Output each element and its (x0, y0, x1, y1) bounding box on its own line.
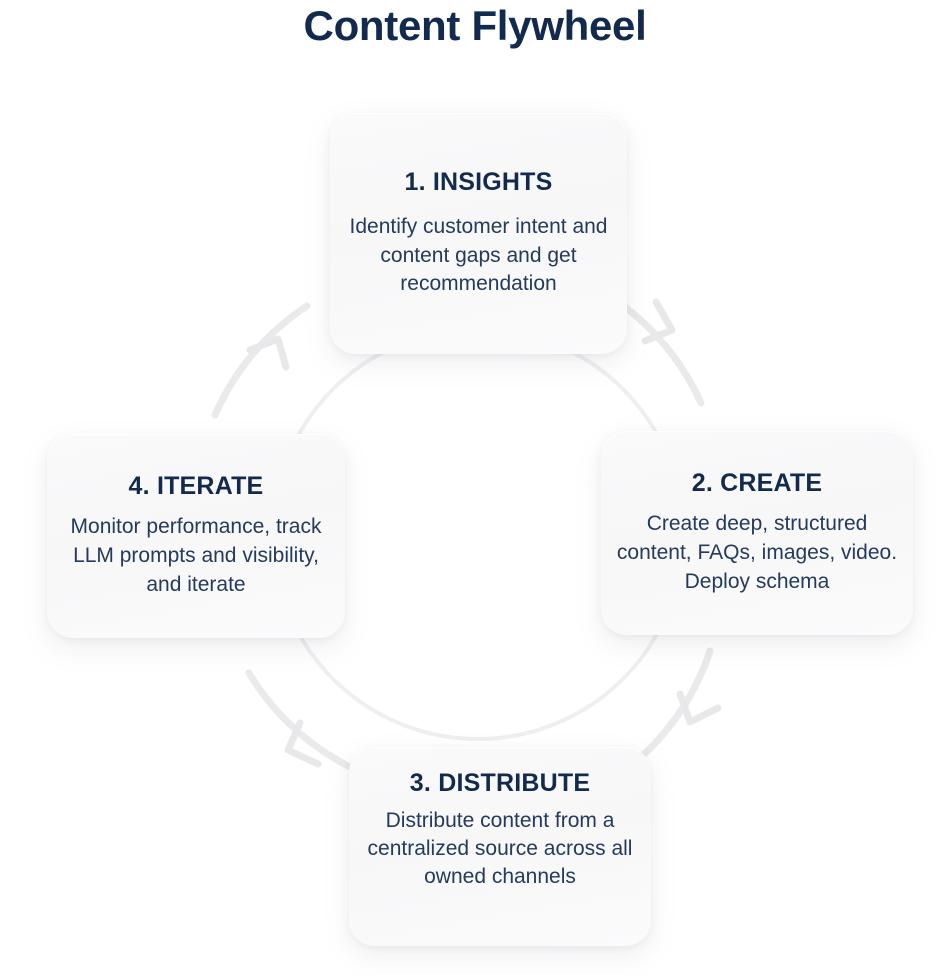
step-card-insights-body: Identify customer intent and content gap… (330, 213, 627, 300)
step-card-iterate-title: 4. ITERATE (129, 472, 264, 501)
step-card-iterate[interactable]: 4. ITERATE Monitor performance, track LL… (47, 434, 345, 638)
step-card-distribute-title: 3. DISTRIBUTE (410, 769, 590, 798)
step-card-create-title: 2. CREATE (692, 469, 823, 498)
step-card-create-body: Create deep, structured content, FAQs, i… (601, 510, 913, 597)
step-card-insights-title: 1. INSIGHTS (404, 168, 552, 197)
flywheel-diagram: Content Flywheel 1. INSIGHTS Identify cu… (0, 0, 950, 975)
arrowhead-insights-to-create (645, 302, 672, 341)
arrow-create-to-distribute (641, 651, 710, 757)
step-card-distribute[interactable]: 3. DISTRIBUTE Distribute content from a … (349, 747, 651, 946)
step-card-insights[interactable]: 1. INSIGHTS Identify customer intent and… (330, 113, 627, 354)
step-card-distribute-body: Distribute content from a centralized so… (349, 807, 651, 891)
arrow-insights-to-create (614, 299, 701, 403)
arrow-iterate-to-insights (215, 306, 307, 415)
step-card-create[interactable]: 2. CREATE Create deep, structured conten… (601, 431, 913, 635)
step-card-iterate-body: Monitor performance, track LLM prompts a… (47, 513, 345, 600)
